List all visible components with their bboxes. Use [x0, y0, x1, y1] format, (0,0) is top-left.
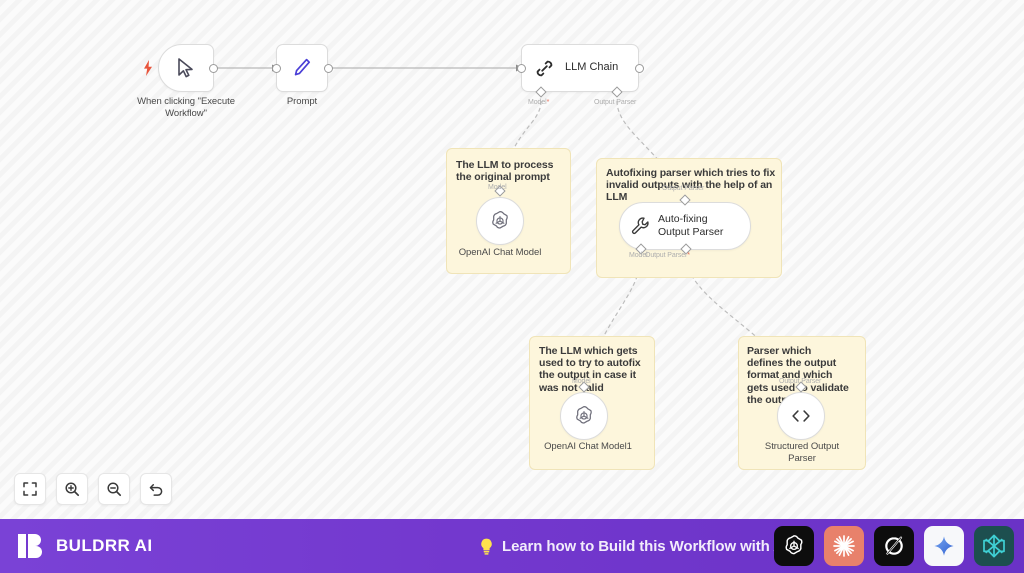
claude-icon — [830, 532, 858, 560]
zoom-out-icon — [106, 481, 122, 497]
port-trigger-output[interactable] — [209, 64, 218, 73]
node-title-auto-fixing-output-parser: Auto-fixing Output Parser — [658, 213, 736, 238]
sticky-note-llm-text: The LLM to process the original prompt — [456, 159, 562, 183]
gemini-icon — [932, 534, 956, 558]
buldrr-b-logo-icon — [16, 531, 46, 561]
ai-service-icons — [774, 526, 1014, 566]
zoom-out-button[interactable] — [98, 473, 130, 505]
bottom-promo-banner: BULDRR AI Learn how to Build this Workfl… — [0, 519, 1024, 573]
grok-icon — [881, 533, 907, 559]
node-label-prompt: Prompt — [260, 96, 344, 108]
fit-view-icon — [22, 481, 38, 497]
banner-cta-text: Learn how to Build this Workflow with AI… — [502, 538, 793, 555]
claude-icon-button[interactable] — [824, 526, 864, 566]
grok-icon-button[interactable] — [874, 526, 914, 566]
n8n-teal-icon-button[interactable] — [974, 526, 1014, 566]
lightbulb-icon — [478, 537, 495, 556]
port-llm-chain-input[interactable] — [517, 64, 526, 73]
pencil-icon — [292, 57, 312, 79]
port-label-llm-chain-output-parser: Output Parser — [594, 99, 636, 106]
zoom-in-button[interactable] — [56, 473, 88, 505]
openai-icon — [488, 209, 512, 233]
node-label-openai-chat-model1: OpenAI Chat Model1 — [534, 441, 642, 453]
node-when-clicking-execute-workflow[interactable] — [158, 44, 214, 92]
chain-link-icon — [534, 58, 555, 79]
undo-arrow-icon — [148, 481, 165, 498]
port-llm-chain-output[interactable] — [635, 64, 644, 73]
lightning-bolt-icon — [142, 60, 154, 76]
code-brackets-icon — [790, 407, 812, 425]
workflow-editor: The LLM to process the original prompt A… — [0, 0, 1024, 573]
n8n-teal-icon — [980, 532, 1008, 560]
node-openai-chat-model1[interactable] — [560, 392, 608, 440]
openai-icon — [781, 533, 807, 559]
port-prompt-input[interactable] — [272, 64, 281, 73]
openai-icon — [572, 404, 596, 428]
banner-cta: Learn how to Build this Workflow with AI… — [478, 537, 793, 556]
sticky-note-autofix-llm-text: The LLM which gets used to try to autofi… — [539, 345, 647, 394]
port-label-autofix-top: Output Parser — [662, 185, 704, 192]
node-title-llm-chain: LLM Chain — [565, 61, 618, 74]
node-label-openai-chat-model: OpenAI Chat Model — [450, 247, 550, 259]
node-openai-chat-model[interactable] — [476, 197, 524, 245]
zoom-in-icon — [64, 481, 80, 497]
port-label-openai-chat-model1: Model — [572, 378, 591, 385]
brand-name-text: BULDRR AI — [56, 536, 152, 556]
node-llm-chain[interactable]: LLM Chain — [521, 44, 639, 92]
port-label-openai-chat-model: Model — [488, 184, 507, 191]
port-label-llm-chain-model: Model* — [528, 99, 549, 106]
workflow-canvas[interactable]: The LLM to process the original prompt A… — [0, 0, 1024, 519]
gemini-icon-button[interactable] — [924, 526, 964, 566]
fit-to-view-button[interactable] — [14, 473, 46, 505]
openai-icon-button[interactable] — [774, 526, 814, 566]
wrench-icon — [630, 216, 650, 236]
node-structured-output-parser[interactable] — [777, 392, 825, 440]
node-label-trigger: When clicking "Execute Workflow" — [130, 96, 242, 120]
brand-logo-area[interactable]: BULDRR AI — [16, 531, 152, 561]
reset-zoom-button[interactable] — [140, 473, 172, 505]
port-label-structured-output-parser: Output Parser — [779, 378, 821, 385]
port-label-autofix-output-parser: Output Parser* — [645, 252, 690, 259]
node-prompt[interactable] — [276, 44, 328, 92]
node-label-structured-output-parser: Structured Output Parser — [752, 441, 852, 465]
port-prompt-output[interactable] — [324, 64, 333, 73]
cursor-pointer-icon — [176, 57, 196, 79]
canvas-toolbar — [14, 473, 172, 505]
